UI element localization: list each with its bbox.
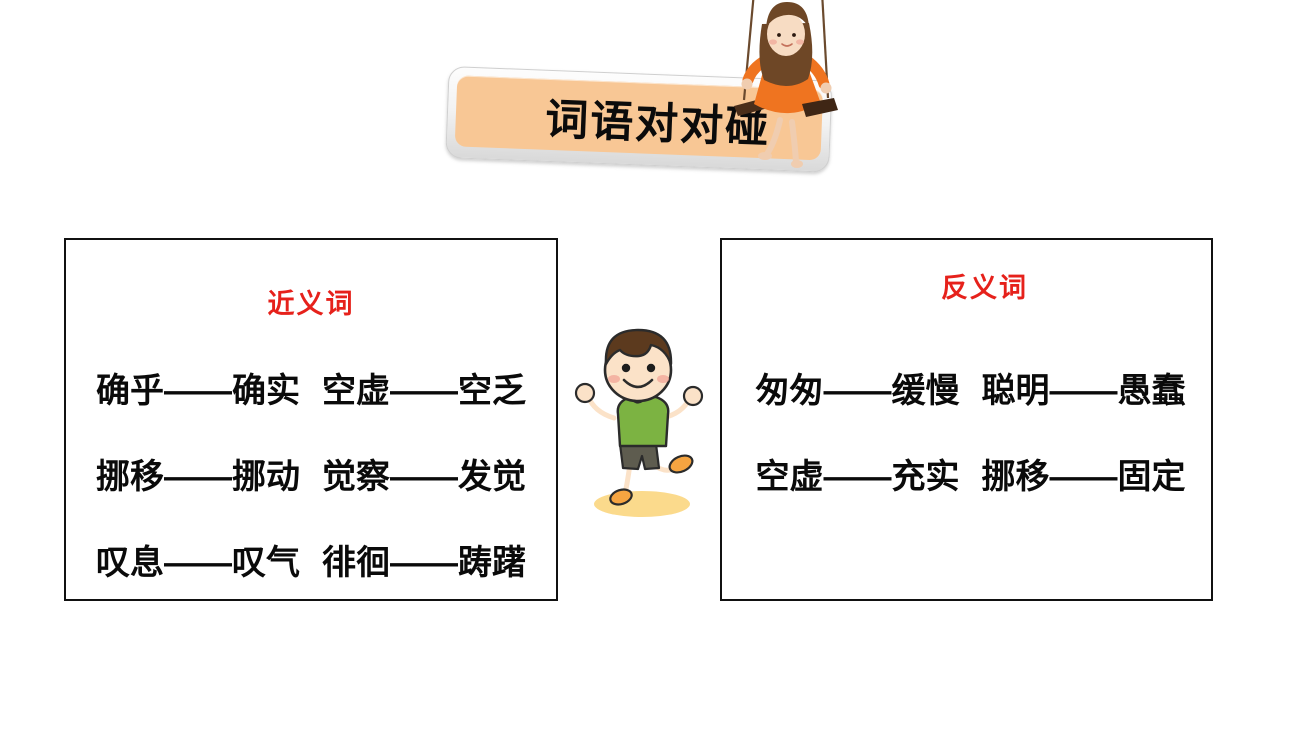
word-pair: 聪明——愚蠢	[982, 363, 1186, 412]
synonyms-rows: 确乎——确实 空虚——空乏 挪移——挪动 觉察——发觉 叹息——叹气 徘徊——踌…	[66, 344, 556, 602]
banner-title-text: 词语对对碰	[445, 66, 832, 173]
antonyms-heading: 反义词	[722, 266, 1211, 305]
word-row: 匆匆——缓慢 聪明——愚蠢	[730, 344, 1211, 430]
synonyms-heading: 近义词	[66, 282, 556, 321]
word-row: 确乎——确实 空虚——空乏	[66, 344, 556, 430]
word-row: 叹息——叹气 徘徊——踌躇	[66, 516, 556, 602]
antonyms-box: 反义词 匆匆——缓慢 聪明——愚蠢 空虚——充实 挪移——固定	[720, 238, 1213, 601]
word-row: 挪移——挪动 觉察——发觉	[66, 430, 556, 516]
jumping-boy-icon	[562, 322, 718, 522]
synonyms-box: 近义词 确乎——确实 空虚——空乏 挪移——挪动 觉察——发觉 叹息——叹气 徘…	[64, 238, 558, 601]
word-pair: 空虚——空乏	[322, 363, 526, 412]
word-pair: 挪移——固定	[982, 449, 1186, 498]
title-banner: 词语对对碰	[445, 66, 832, 173]
word-pair: 空虚——充实	[756, 449, 960, 498]
word-row: 空虚——充实 挪移——固定	[730, 430, 1211, 516]
word-pair: 徘徊——踌躇	[322, 535, 526, 584]
word-pair: 觉察——发觉	[322, 449, 526, 498]
word-pair: 确乎——确实	[96, 363, 300, 412]
antonyms-rows: 匆匆——缓慢 聪明——愚蠢 空虚——充实 挪移——固定	[722, 344, 1211, 516]
word-pair: 叹息——叹气	[96, 535, 300, 584]
word-pair: 挪移——挪动	[96, 449, 300, 498]
word-pair: 匆匆——缓慢	[756, 363, 960, 412]
